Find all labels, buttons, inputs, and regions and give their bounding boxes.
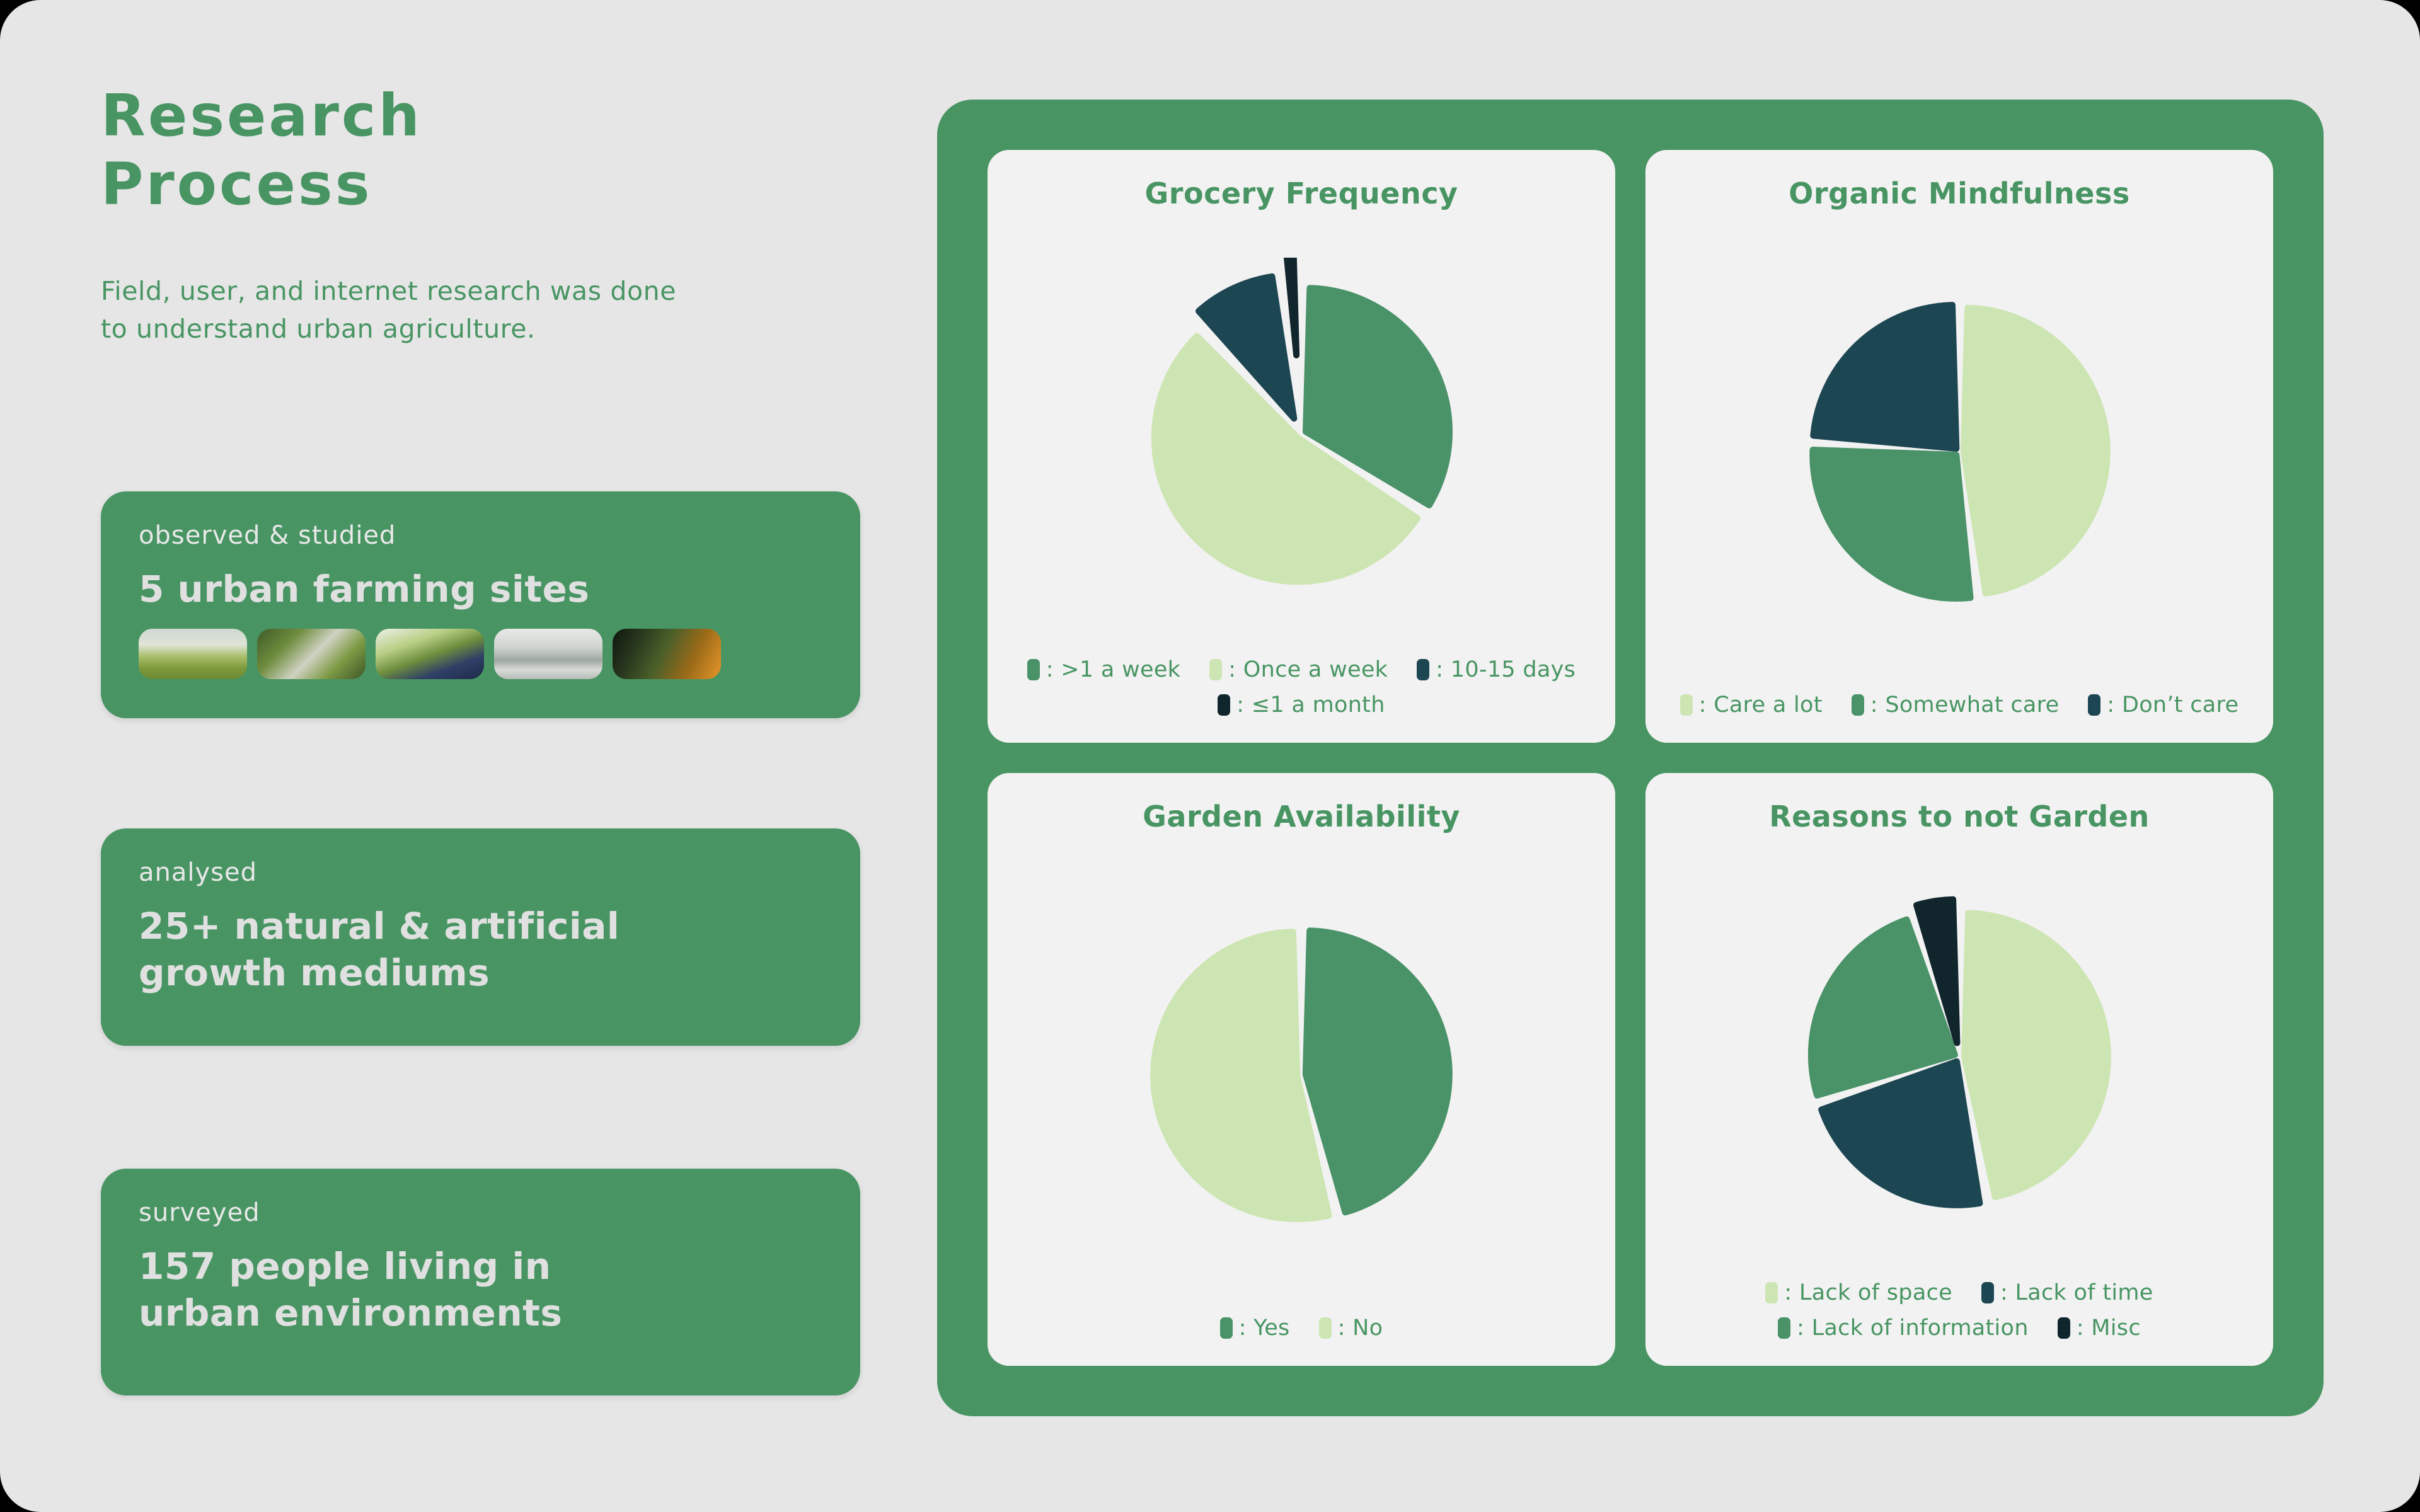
pie-area bbox=[1645, 833, 2273, 1280]
legend-label: : Don’t care bbox=[2107, 692, 2238, 718]
legend-swatch-icon bbox=[1027, 659, 1040, 680]
legend-item[interactable]: : Yes bbox=[1220, 1315, 1290, 1341]
site-thumbnail-row bbox=[139, 629, 822, 679]
legend-item[interactable]: : Care a lot bbox=[1680, 692, 1823, 718]
legend-label: : Once a week bbox=[1228, 657, 1388, 682]
legend-item[interactable]: : >1 a week bbox=[1027, 657, 1180, 682]
legend-swatch-icon bbox=[1680, 694, 1693, 716]
chart-title: Garden Availability bbox=[1143, 799, 1460, 833]
legend-label: : Yes bbox=[1239, 1315, 1290, 1341]
legend-item[interactable]: : Lack of information bbox=[1778, 1315, 2029, 1341]
chart-legend: : Care a lot: Somewhat care: Don’t care bbox=[1645, 692, 2273, 743]
chart-card-grocery-frequency: Grocery Frequency: >1 a week: Once a wee… bbox=[988, 150, 1615, 743]
vertical-farm-rack-thumb bbox=[494, 629, 602, 679]
legend-swatch-icon bbox=[1209, 659, 1222, 680]
stat-card-surveyed: surveyed 157 people living in urban envi… bbox=[101, 1169, 860, 1395]
legend-swatch-icon bbox=[1220, 1317, 1233, 1339]
stat-value: 157 people living in urban environments bbox=[139, 1243, 822, 1336]
legend-swatch-icon bbox=[1765, 1282, 1778, 1303]
legend-item[interactable]: : Don’t care bbox=[2088, 692, 2238, 718]
reasons-to-not-garden-pie bbox=[1783, 881, 2136, 1234]
page-title: Research Process bbox=[101, 82, 876, 219]
chart-legend: : Yes: No bbox=[988, 1315, 1615, 1366]
legend-item[interactable]: : Lack of space bbox=[1765, 1280, 1952, 1305]
stat-eyebrow: analysed bbox=[139, 857, 822, 888]
legend-item[interactable]: : Lack of time bbox=[1981, 1280, 2153, 1305]
pie-slice-care-a-lot bbox=[1964, 307, 2107, 593]
intro-paragraph: Field, user, and internet research was d… bbox=[101, 273, 876, 348]
legend-label: : 10-15 days bbox=[1436, 657, 1576, 682]
stat-card-analysed: analysed 25+ natural & artificial growth… bbox=[101, 828, 860, 1046]
legend-swatch-icon bbox=[1417, 659, 1429, 680]
pie-slice-lack-of-space bbox=[1964, 913, 2108, 1197]
greenhouse-rows-thumb bbox=[139, 629, 247, 679]
legend-swatch-icon bbox=[1319, 1317, 1332, 1339]
organic-mindfulness-pie bbox=[1783, 275, 2136, 628]
pie-slice-yes bbox=[1306, 931, 1449, 1212]
chart-title: Grocery Frequency bbox=[1145, 176, 1458, 210]
chart-title: Organic Mindfulness bbox=[1789, 176, 2130, 210]
legend-swatch-icon bbox=[1778, 1317, 1790, 1339]
poster-canvas: Research Process Field, user, and intern… bbox=[0, 0, 2420, 1512]
legend-item[interactable]: : Misc bbox=[2058, 1315, 2141, 1341]
stat-eyebrow: observed & studied bbox=[139, 520, 822, 551]
chart-title: Reasons to not Garden bbox=[1769, 799, 2150, 833]
legend-swatch-icon bbox=[2058, 1317, 2070, 1339]
pie-slice-somewhat-care bbox=[1812, 450, 1970, 598]
stat-eyebrow: surveyed bbox=[139, 1198, 822, 1228]
left-column: Research Process Field, user, and intern… bbox=[101, 82, 876, 1443]
legend-item[interactable]: : 10-15 days bbox=[1417, 657, 1576, 682]
chart-legend: : Lack of space: Lack of time: Lack of i… bbox=[1645, 1280, 2273, 1366]
legend-item[interactable]: : ≤1 a month bbox=[1218, 692, 1385, 718]
legend-item[interactable]: : No bbox=[1319, 1315, 1383, 1341]
legend-label: : Care a lot bbox=[1699, 692, 1823, 718]
legend-label: : Somewhat care bbox=[1870, 692, 2060, 718]
grocery-frequency-pie bbox=[1125, 258, 1478, 610]
legend-label: : Lack of time bbox=[2000, 1280, 2153, 1305]
legend-label: : Lack of information bbox=[1797, 1315, 2029, 1341]
stat-value: 5 urban farming sites bbox=[139, 566, 822, 612]
legend-swatch-icon bbox=[1852, 694, 1864, 716]
charts-panel: Grocery Frequency: >1 a week: Once a wee… bbox=[937, 100, 2324, 1416]
pie-slice-don-t-care bbox=[1813, 305, 1956, 449]
stat-card-observed: observed & studied 5 urban farming sites bbox=[101, 491, 860, 718]
hydroponic-worker-thumb bbox=[376, 629, 484, 679]
pie-area bbox=[988, 210, 1615, 657]
stat-value: 25+ natural & artificial growth mediums bbox=[139, 903, 822, 996]
legend-swatch-icon bbox=[1218, 694, 1230, 716]
pie-slice-no bbox=[1153, 931, 1329, 1218]
pie-area bbox=[988, 833, 1615, 1315]
garden-availability-pie bbox=[1125, 898, 1478, 1251]
pie-area bbox=[1645, 210, 2273, 692]
legend-label: : ≤1 a month bbox=[1236, 692, 1385, 718]
chart-card-organic-mindfulness: Organic Mindfulness: Care a lot: Somewha… bbox=[1645, 150, 2273, 743]
legend-item[interactable]: : Once a week bbox=[1209, 657, 1388, 682]
legend-label: : Misc bbox=[2077, 1315, 2141, 1341]
legend-label: : >1 a week bbox=[1046, 657, 1180, 682]
dark-leafy-crop-thumb bbox=[613, 629, 721, 679]
legend-swatch-icon bbox=[2088, 694, 2100, 716]
chart-legend: : >1 a week: Once a week: 10-15 days: ≤1… bbox=[988, 657, 1615, 743]
legend-label: : Lack of space bbox=[1784, 1280, 1952, 1305]
nursery-trays-thumb bbox=[257, 629, 366, 679]
legend-item[interactable]: : Somewhat care bbox=[1852, 692, 2060, 718]
legend-swatch-icon bbox=[1981, 1282, 1994, 1303]
chart-card-garden-availability: Garden Availability: Yes: No bbox=[988, 773, 1615, 1366]
legend-label: : No bbox=[1338, 1315, 1383, 1341]
chart-card-reasons-to-not-garden: Reasons to not Garden: Lack of space: La… bbox=[1645, 773, 2273, 1366]
